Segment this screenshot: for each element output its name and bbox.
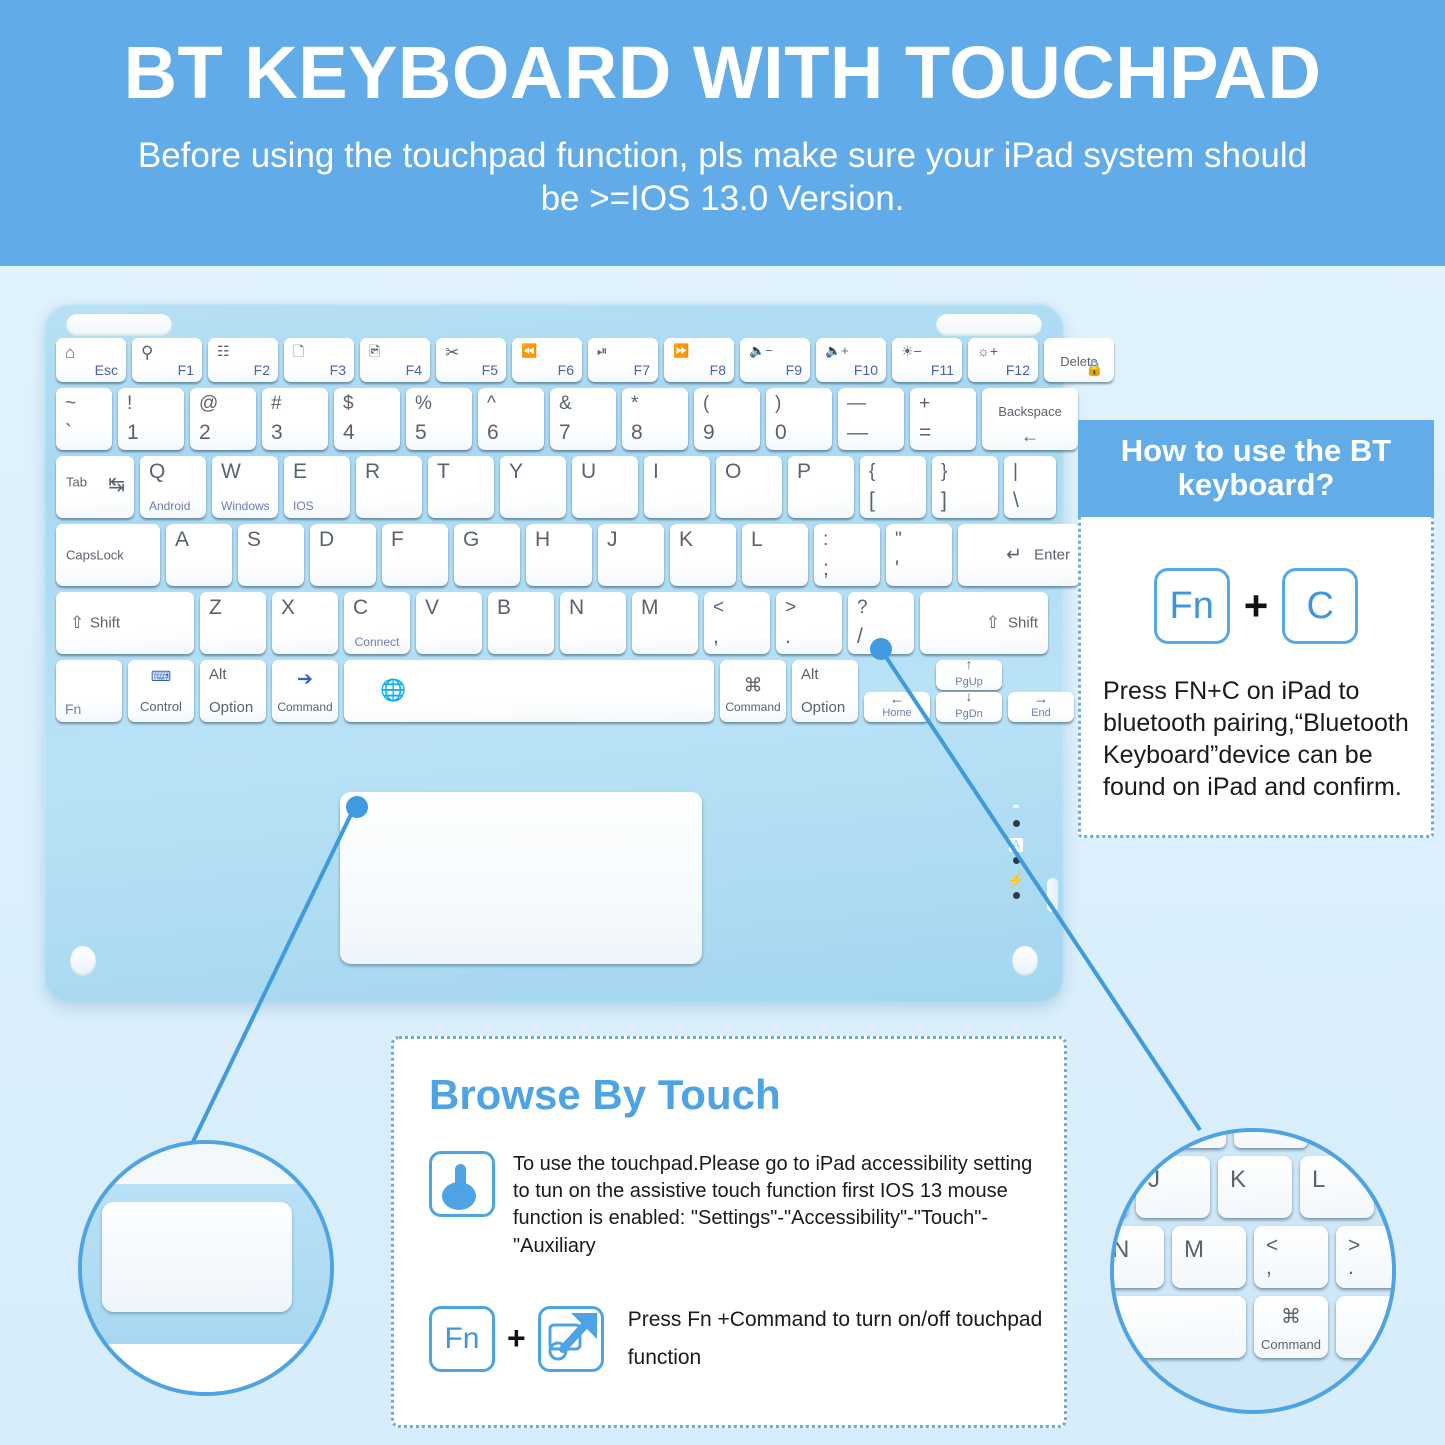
key-esc-label: Esc [95, 363, 118, 377]
key-n-label: N [569, 597, 584, 618]
key-8[interactable]: * 8 [622, 388, 688, 450]
key-r-label: R [365, 461, 380, 482]
key-3-lower: 3 [271, 422, 283, 443]
key-command-right[interactable]: ⌘ Command [720, 660, 786, 722]
arrow-left-icon: ← [864, 692, 930, 708]
shift-up-arrow-icon: ⇧ [56, 613, 194, 633]
magnifier-key-l: L [1300, 1156, 1374, 1218]
key-j-label: J [607, 529, 618, 550]
next-track-icon: ⏩ [673, 344, 689, 357]
key-8-upper: * [631, 394, 638, 413]
key-minus-upper: — [847, 394, 866, 413]
key-3[interactable]: # 3 [262, 388, 328, 450]
key-2[interactable]: @ 2 [190, 388, 256, 450]
keyboard-top-pad-right [936, 314, 1042, 336]
magnifier-key-period: > . [1336, 1226, 1396, 1288]
key-0-upper: ) [775, 394, 781, 413]
key-9-lower: 9 [703, 422, 715, 443]
key-k-label: K [679, 529, 693, 550]
key-o-label: O [725, 461, 741, 482]
key-u[interactable]: U [572, 456, 638, 518]
key-bracket-right-upper: } [941, 462, 947, 481]
brightness-down-icon: ☀− [901, 344, 922, 358]
key-option-left-label: Option [209, 699, 253, 716]
key-g[interactable]: G [454, 524, 520, 586]
key-slash-lower: / [857, 626, 863, 647]
key-4-lower: 4 [343, 422, 355, 443]
header-subtitle: Before using the touchpad function, pls … [0, 134, 1445, 220]
magnifier-key-l-label: L [1312, 1166, 1325, 1194]
key-u-label: U [581, 461, 596, 482]
key-backspace[interactable]: Backspace ← [982, 388, 1078, 450]
key-arrow-left[interactable]: ← Home [864, 692, 930, 722]
key-esc[interactable]: ⌂ Esc [56, 338, 126, 382]
magnifier-key-option-partial [1336, 1296, 1396, 1358]
key-a[interactable]: A [166, 524, 232, 586]
key-arrow-right[interactable]: → End [1008, 692, 1074, 722]
browse-item-2: Fn + Press Fn +Command to turn on/off to… [429, 1301, 1044, 1377]
key-tab[interactable]: Tab ↹ [56, 456, 134, 518]
keyboard-top-pad-left [66, 314, 172, 336]
magnifier-row-space: ⌘ Command [1110, 1296, 1396, 1358]
key-comma-lower: , [713, 626, 719, 647]
key-e-label: E [293, 461, 307, 482]
key-row-qwerty: Tab ↹ Q Android W Windows E IOS R T Y [56, 456, 1052, 518]
key-end-label: End [1008, 708, 1074, 719]
page-icon: 🗋 [293, 344, 304, 358]
key-f11[interactable]: ☀− F11 [892, 338, 962, 382]
tab-arrow-icon: ↹ [108, 472, 125, 497]
key-backslash[interactable]: | \ [1004, 456, 1056, 518]
magnifier-key-partial-2 [1152, 1128, 1226, 1148]
key-equals-lower: = [919, 422, 931, 443]
key-g-label: G [463, 529, 479, 550]
image-icon: 🖻 [369, 344, 380, 358]
key-bracket-left-upper: { [869, 462, 875, 481]
key-f8-label: F8 [710, 363, 726, 377]
howto-key-c: C [1282, 568, 1358, 644]
browse-by-touch-panel: Browse By Touch To use the touchpad.Plea… [391, 1036, 1067, 1428]
key-row-numbers: ~ ` ! 1 @ 2 # 3 $ 4 [56, 388, 1052, 450]
key-f5[interactable]: ✂ F5 [436, 338, 506, 382]
key-f2[interactable]: ☷ F2 [208, 338, 278, 382]
key-8-lower: 8 [631, 422, 643, 443]
key-row-shift: Shift ⇧ Z X C Connect V B N M < , > [56, 592, 1052, 654]
key-c[interactable]: C Connect [344, 592, 410, 654]
command-symbol-icon: ⌘ [720, 675, 786, 698]
browse-title: Browse By Touch [429, 1071, 781, 1119]
indicator-capslock: A [996, 836, 1036, 864]
play-pause-icon: ⏯ [597, 344, 607, 357]
key-b-label: B [497, 597, 511, 618]
key-e[interactable]: E IOS [284, 456, 350, 518]
magnifier-key-m-label: M [1184, 1236, 1204, 1264]
keyboard-device: ⌂ Esc ⚲ F1 ☷ F2 🗋 F3 🖻 F4 [44, 302, 1064, 1002]
magnifier-row-top [1110, 1128, 1396, 1148]
key-q[interactable]: Q Android [140, 456, 206, 518]
magnifier-key-k: K [1218, 1156, 1292, 1218]
key-quote[interactable]: " ' [886, 524, 952, 586]
key-fn-label: Fn [65, 702, 81, 716]
key-t-label: T [437, 461, 450, 482]
magnifier-key-partial-1 [1110, 1128, 1144, 1148]
key-f7-label: F7 [634, 363, 650, 377]
key-alt-left-label: Alt [209, 666, 227, 683]
key-pgdn-label: PgDn [936, 709, 1002, 720]
magnifier-row-nm: N M < , > . [1110, 1226, 1396, 1288]
key-matrix: ⌂ Esc ⚲ F1 ☷ F2 🗋 F3 🖻 F4 [56, 338, 1052, 728]
key-1-upper: ! [127, 394, 132, 413]
key-option-right-label: Option [801, 699, 845, 716]
key-2-upper: @ [199, 394, 218, 413]
touchpad-pointer-icon: ➔ [272, 668, 338, 691]
screenshot-icon: ☷ [217, 344, 230, 358]
key-w-sublabel: Windows [221, 500, 270, 512]
key-bracket-left[interactable]: { [ [860, 456, 926, 518]
key-backspace-label: Backspace [982, 404, 1078, 419]
key-j[interactable]: J [598, 524, 664, 586]
key-y-label: Y [509, 461, 523, 482]
browse-item-2-text: Press Fn +Command to turn on/off touchpa… [628, 1301, 1044, 1377]
key-arrow-down[interactable]: ↓ PgDn [936, 692, 1002, 722]
charging-port [1047, 878, 1058, 912]
key-capslock[interactable]: CapsLock [56, 524, 160, 586]
magnifier-touchpad-top-edge [78, 1144, 334, 1186]
key-f4[interactable]: 🖻 F4 [360, 338, 430, 382]
key-command-right-label: Command [720, 700, 786, 714]
key-f11-label: F11 [931, 363, 954, 377]
globe-icon: 🌐 [344, 679, 714, 703]
key-backslash-upper: | [1013, 462, 1018, 481]
magnifier-touchpad-surface [102, 1202, 292, 1312]
key-space[interactable]: 🌐 [344, 660, 714, 722]
key-w-label: W [221, 461, 241, 482]
magnifier-key-comma-lower: , [1266, 1256, 1272, 1280]
key-f12[interactable]: ☼+ F12 [968, 338, 1038, 382]
indicator-charging: ⚡ [996, 873, 1036, 900]
magnifier-key-partial-3 [1234, 1128, 1308, 1148]
key-q-sublabel: Android [149, 500, 190, 512]
key-period-upper: > [785, 598, 796, 617]
key-c-sublabel: Connect [344, 636, 410, 648]
indicator-led-group: ◓ A ⚡ [996, 800, 1036, 908]
key-h[interactable]: H [526, 524, 592, 586]
finger-touch-icon [429, 1151, 495, 1217]
key-z[interactable]: Z [200, 592, 266, 654]
key-f10[interactable]: 🔈+ F10 [816, 338, 886, 382]
page-title: BT KEYBOARD WITH TOUCHPAD [0, 34, 1445, 112]
key-y[interactable]: Y [500, 456, 566, 518]
key-f10-label: F10 [854, 363, 878, 377]
key-3-upper: # [271, 394, 282, 413]
key-t[interactable]: T [428, 456, 494, 518]
key-c-label: C [353, 597, 368, 618]
key-row-bottom: Fn ⌨ Control Alt Option ➔ Command 🌐 [56, 660, 1052, 722]
magnifier-key-m: M [1172, 1226, 1246, 1288]
key-quote-lower: ' [895, 558, 899, 579]
magnifier-command-symbol-icon: ⌘ [1254, 1304, 1328, 1329]
key-n[interactable]: N [560, 592, 626, 654]
key-semicolon[interactable]: : ; [814, 524, 880, 586]
key-m-label: M [641, 597, 659, 618]
magnifier-key-command: ⌘ Command [1254, 1296, 1328, 1358]
key-equals[interactable]: + = [910, 388, 976, 450]
arrow-right-slot: → End [1008, 660, 1074, 722]
browse-item-1-text: To use the touchpad.Please go to iPad ac… [513, 1151, 1044, 1260]
indicator-bluetooth: ◓ [996, 800, 1036, 827]
enter-arrow-icon: ↵ [958, 544, 1080, 567]
key-f7[interactable]: ⏯ F7 [588, 338, 658, 382]
key-l[interactable]: L [742, 524, 808, 586]
key-0[interactable]: ) 0 [766, 388, 832, 450]
key-period[interactable]: > . [776, 592, 842, 654]
key-2-lower: 2 [199, 422, 211, 443]
key-slash-upper: ? [857, 598, 868, 617]
magnifier-key-period-lower: . [1348, 1256, 1354, 1280]
prev-track-icon: ⏪ [521, 344, 537, 357]
key-tilde-upper: ~ [65, 394, 76, 413]
howto-callout: How to use the BT keyboard? Fn + C Press… [1078, 420, 1434, 838]
key-4[interactable]: $ 4 [334, 388, 400, 450]
key-7-lower: 7 [559, 422, 571, 443]
magnifier-key-period-upper: > [1348, 1234, 1360, 1258]
key-f1-label: F1 [178, 363, 194, 377]
key-bracket-right-lower: ] [941, 490, 947, 511]
key-p[interactable]: P [788, 456, 854, 518]
key-row-home: CapsLock A S D F G H J K L : ; " ' [56, 524, 1052, 586]
key-fn[interactable]: Fn [56, 660, 122, 722]
keyboard-bottom-foot-left [70, 946, 96, 976]
scissors-icon: ✂ [445, 344, 459, 361]
key-d[interactable]: D [310, 524, 376, 586]
key-command-left-label: Command [272, 700, 338, 714]
key-5-upper: % [415, 394, 432, 413]
key-d-label: D [319, 529, 334, 550]
key-control[interactable]: ⌨ Control [128, 660, 194, 722]
key-f12-label: F12 [1006, 363, 1030, 377]
key-i[interactable]: I [644, 456, 710, 518]
key-0-lower: 0 [775, 422, 787, 443]
key-f-label: F [391, 529, 404, 550]
key-pgup-label: PgUp [936, 677, 1002, 688]
key-bracket-right[interactable]: } ] [932, 456, 998, 518]
search-icon: ⚲ [141, 344, 153, 361]
key-w[interactable]: W Windows [212, 456, 278, 518]
key-delete[interactable]: Delete 🔒 [1044, 338, 1114, 382]
key-home-label: Home [864, 708, 930, 719]
key-f8[interactable]: ⏩ F8 [664, 338, 734, 382]
volume-down-icon: 🔈− [749, 344, 773, 357]
key-arrow-up[interactable]: ↑ PgUp [936, 660, 1002, 690]
key-quote-upper: " [895, 530, 902, 549]
arrow-left-slot: ← Home [864, 660, 930, 722]
key-alt-option-right[interactable]: Alt Option [792, 660, 858, 722]
key-s[interactable]: S [238, 524, 304, 586]
key-v[interactable]: V [416, 592, 482, 654]
magnifier-key-command-label: Command [1254, 1337, 1328, 1352]
key-x[interactable]: X [272, 592, 338, 654]
howto-title: How to use the BT keyboard? [1078, 420, 1434, 517]
howto-key-fn: Fn [1154, 568, 1230, 644]
key-tilde[interactable]: ~ ` [56, 388, 112, 450]
key-4-upper: $ [343, 394, 354, 413]
key-capslock-label: CapsLock [56, 548, 160, 563]
key-f6-label: F6 [558, 363, 574, 377]
magnifier-key-comma: < , [1254, 1226, 1328, 1288]
howto-key-combo: Fn + C [1081, 568, 1431, 644]
key-z-label: Z [209, 597, 222, 618]
browse-key-fn: Fn [429, 1306, 495, 1372]
key-e-sublabel: IOS [293, 500, 314, 512]
arrow-down-icon: ↓ [936, 692, 1002, 704]
magnifier-keys: J K L N M < , [1110, 1128, 1396, 1414]
magnifier-key-semicolon-partial [1382, 1156, 1396, 1218]
key-1-lower: 1 [127, 422, 139, 443]
key-comma[interactable]: < , [704, 592, 770, 654]
key-shift-right[interactable]: Shift ⇧ [920, 592, 1048, 654]
key-f3-label: F3 [330, 363, 346, 377]
key-f2-label: F2 [254, 363, 270, 377]
key-minus-lower: — [847, 422, 868, 443]
key-f9-label: F9 [786, 363, 802, 377]
key-x-label: X [281, 597, 295, 618]
caps-lock-icon: A [1009, 838, 1024, 852]
header-banner: BT KEYBOARD WITH TOUCHPAD Before using t… [0, 0, 1445, 266]
key-alt-right-label: Alt [801, 666, 819, 683]
key-minus[interactable]: — — [838, 388, 904, 450]
key-control-label: Control [128, 699, 194, 714]
key-6[interactable]: ^ 6 [478, 388, 544, 450]
browse-item-1: To use the touchpad.Please go to iPad ac… [429, 1151, 1044, 1260]
key-period-lower: . [785, 626, 791, 647]
arrow-updown-slot: ↑ PgUp ↓ PgDn [936, 660, 1002, 722]
key-6-upper: ^ [487, 394, 496, 413]
arrow-up-icon: ↑ [936, 660, 1002, 672]
key-q-label: Q [149, 461, 165, 482]
key-semicolon-upper: : [823, 530, 828, 549]
magnifier-key-j: J [1136, 1156, 1210, 1218]
led-dot-charging [1013, 892, 1020, 899]
volume-up-icon: 🔈+ [825, 344, 849, 357]
key-7[interactable]: & 7 [550, 388, 616, 450]
key-f3[interactable]: 🗋 F3 [284, 338, 354, 382]
touchpad-gesture-icon [538, 1306, 604, 1372]
key-enter[interactable]: Enter ↵ [958, 524, 1080, 586]
magnifier-row-jkl: J K L [1110, 1156, 1396, 1218]
magnifier-key-h-partial [1110, 1156, 1128, 1218]
key-k[interactable]: K [670, 524, 736, 586]
led-dot-capslock [1013, 857, 1020, 864]
key-backslash-lower: \ [1013, 490, 1019, 511]
key-v-label: V [425, 597, 439, 618]
key-7-upper: & [559, 394, 572, 413]
key-r[interactable]: R [356, 456, 422, 518]
key-m[interactable]: M [632, 592, 698, 654]
magnifier-touchpad-bottom-edge [78, 1344, 334, 1392]
key-i-label: I [653, 461, 659, 482]
key-9[interactable]: ( 9 [694, 388, 760, 450]
key-row-function: ⌂ Esc ⚲ F1 ☷ F2 🗋 F3 🖻 F4 [56, 338, 1052, 382]
lock-icon: 🔒 [1085, 359, 1104, 377]
key-a-label: A [175, 529, 189, 550]
key-semicolon-lower: ; [823, 558, 829, 579]
magnifier-key-k-label: K [1230, 1166, 1246, 1194]
touchpad[interactable] [340, 792, 702, 964]
keyboard-icon: ⌨ [128, 668, 194, 685]
key-f[interactable]: F [382, 524, 448, 586]
key-f1[interactable]: ⚲ F1 [132, 338, 202, 382]
key-f9[interactable]: 🔈− F9 [740, 338, 810, 382]
key-command-left[interactable]: ➔ Command [272, 660, 338, 722]
key-5-lower: 5 [415, 422, 427, 443]
home-icon: ⌂ [65, 344, 75, 361]
magnifier-keys-inner: J K L N M < , [1110, 1128, 1396, 1366]
bluetooth-signal-icon: ◓ [996, 800, 1036, 817]
key-p-label: P [797, 461, 811, 482]
magnifier-touchpad [78, 1140, 334, 1396]
key-s-label: S [247, 529, 261, 550]
shift-right-up-arrow-icon: ⇧ [920, 613, 1048, 633]
magnifier-key-n-label: N [1112, 1236, 1129, 1264]
magnifier-key-j-label: J [1148, 1166, 1160, 1194]
backspace-arrow-icon: ← [982, 426, 1078, 447]
key-1[interactable]: ! 1 [118, 388, 184, 450]
howto-body-text: Press FN+C on iPad to bluetooth pairing,… [1103, 675, 1415, 803]
leader-dot-touchpad [346, 796, 368, 818]
howto-plus-sign: + [1244, 582, 1269, 630]
keyboard-bottom-foot-right [1012, 946, 1038, 976]
brightness-up-icon: ☼+ [977, 344, 998, 358]
infographic-page: BT KEYBOARD WITH TOUCHPAD Before using t… [0, 0, 1445, 1445]
key-tilde-lower: ` [65, 422, 72, 443]
key-equals-upper: + [919, 394, 930, 413]
leader-dot-keys [870, 638, 892, 660]
key-6-lower: 6 [487, 422, 499, 443]
key-b[interactable]: B [488, 592, 554, 654]
key-bracket-left-lower: [ [869, 490, 875, 511]
key-f5-label: F5 [482, 363, 498, 377]
key-5[interactable]: % 5 [406, 388, 472, 450]
key-h-label: H [535, 529, 550, 550]
magnifier-key-comma-upper: < [1266, 1234, 1278, 1258]
browse-plus-sign: + [507, 1320, 526, 1357]
charging-icon: ⚡ [996, 873, 1036, 890]
key-9-upper: ( [703, 394, 709, 413]
arrow-right-icon: → [1008, 692, 1074, 708]
key-l-label: L [751, 529, 763, 550]
key-f6[interactable]: ⏪ F6 [512, 338, 582, 382]
key-comma-upper: < [713, 598, 724, 617]
magnifier-key-space [1110, 1296, 1246, 1358]
magnifier-key-n: N [1110, 1226, 1164, 1288]
key-o[interactable]: O [716, 456, 782, 518]
key-alt-option-left[interactable]: Alt Option [200, 660, 266, 722]
key-f4-label: F4 [406, 363, 422, 377]
led-dot-bluetooth [1013, 820, 1020, 827]
key-shift-left[interactable]: Shift ⇧ [56, 592, 194, 654]
